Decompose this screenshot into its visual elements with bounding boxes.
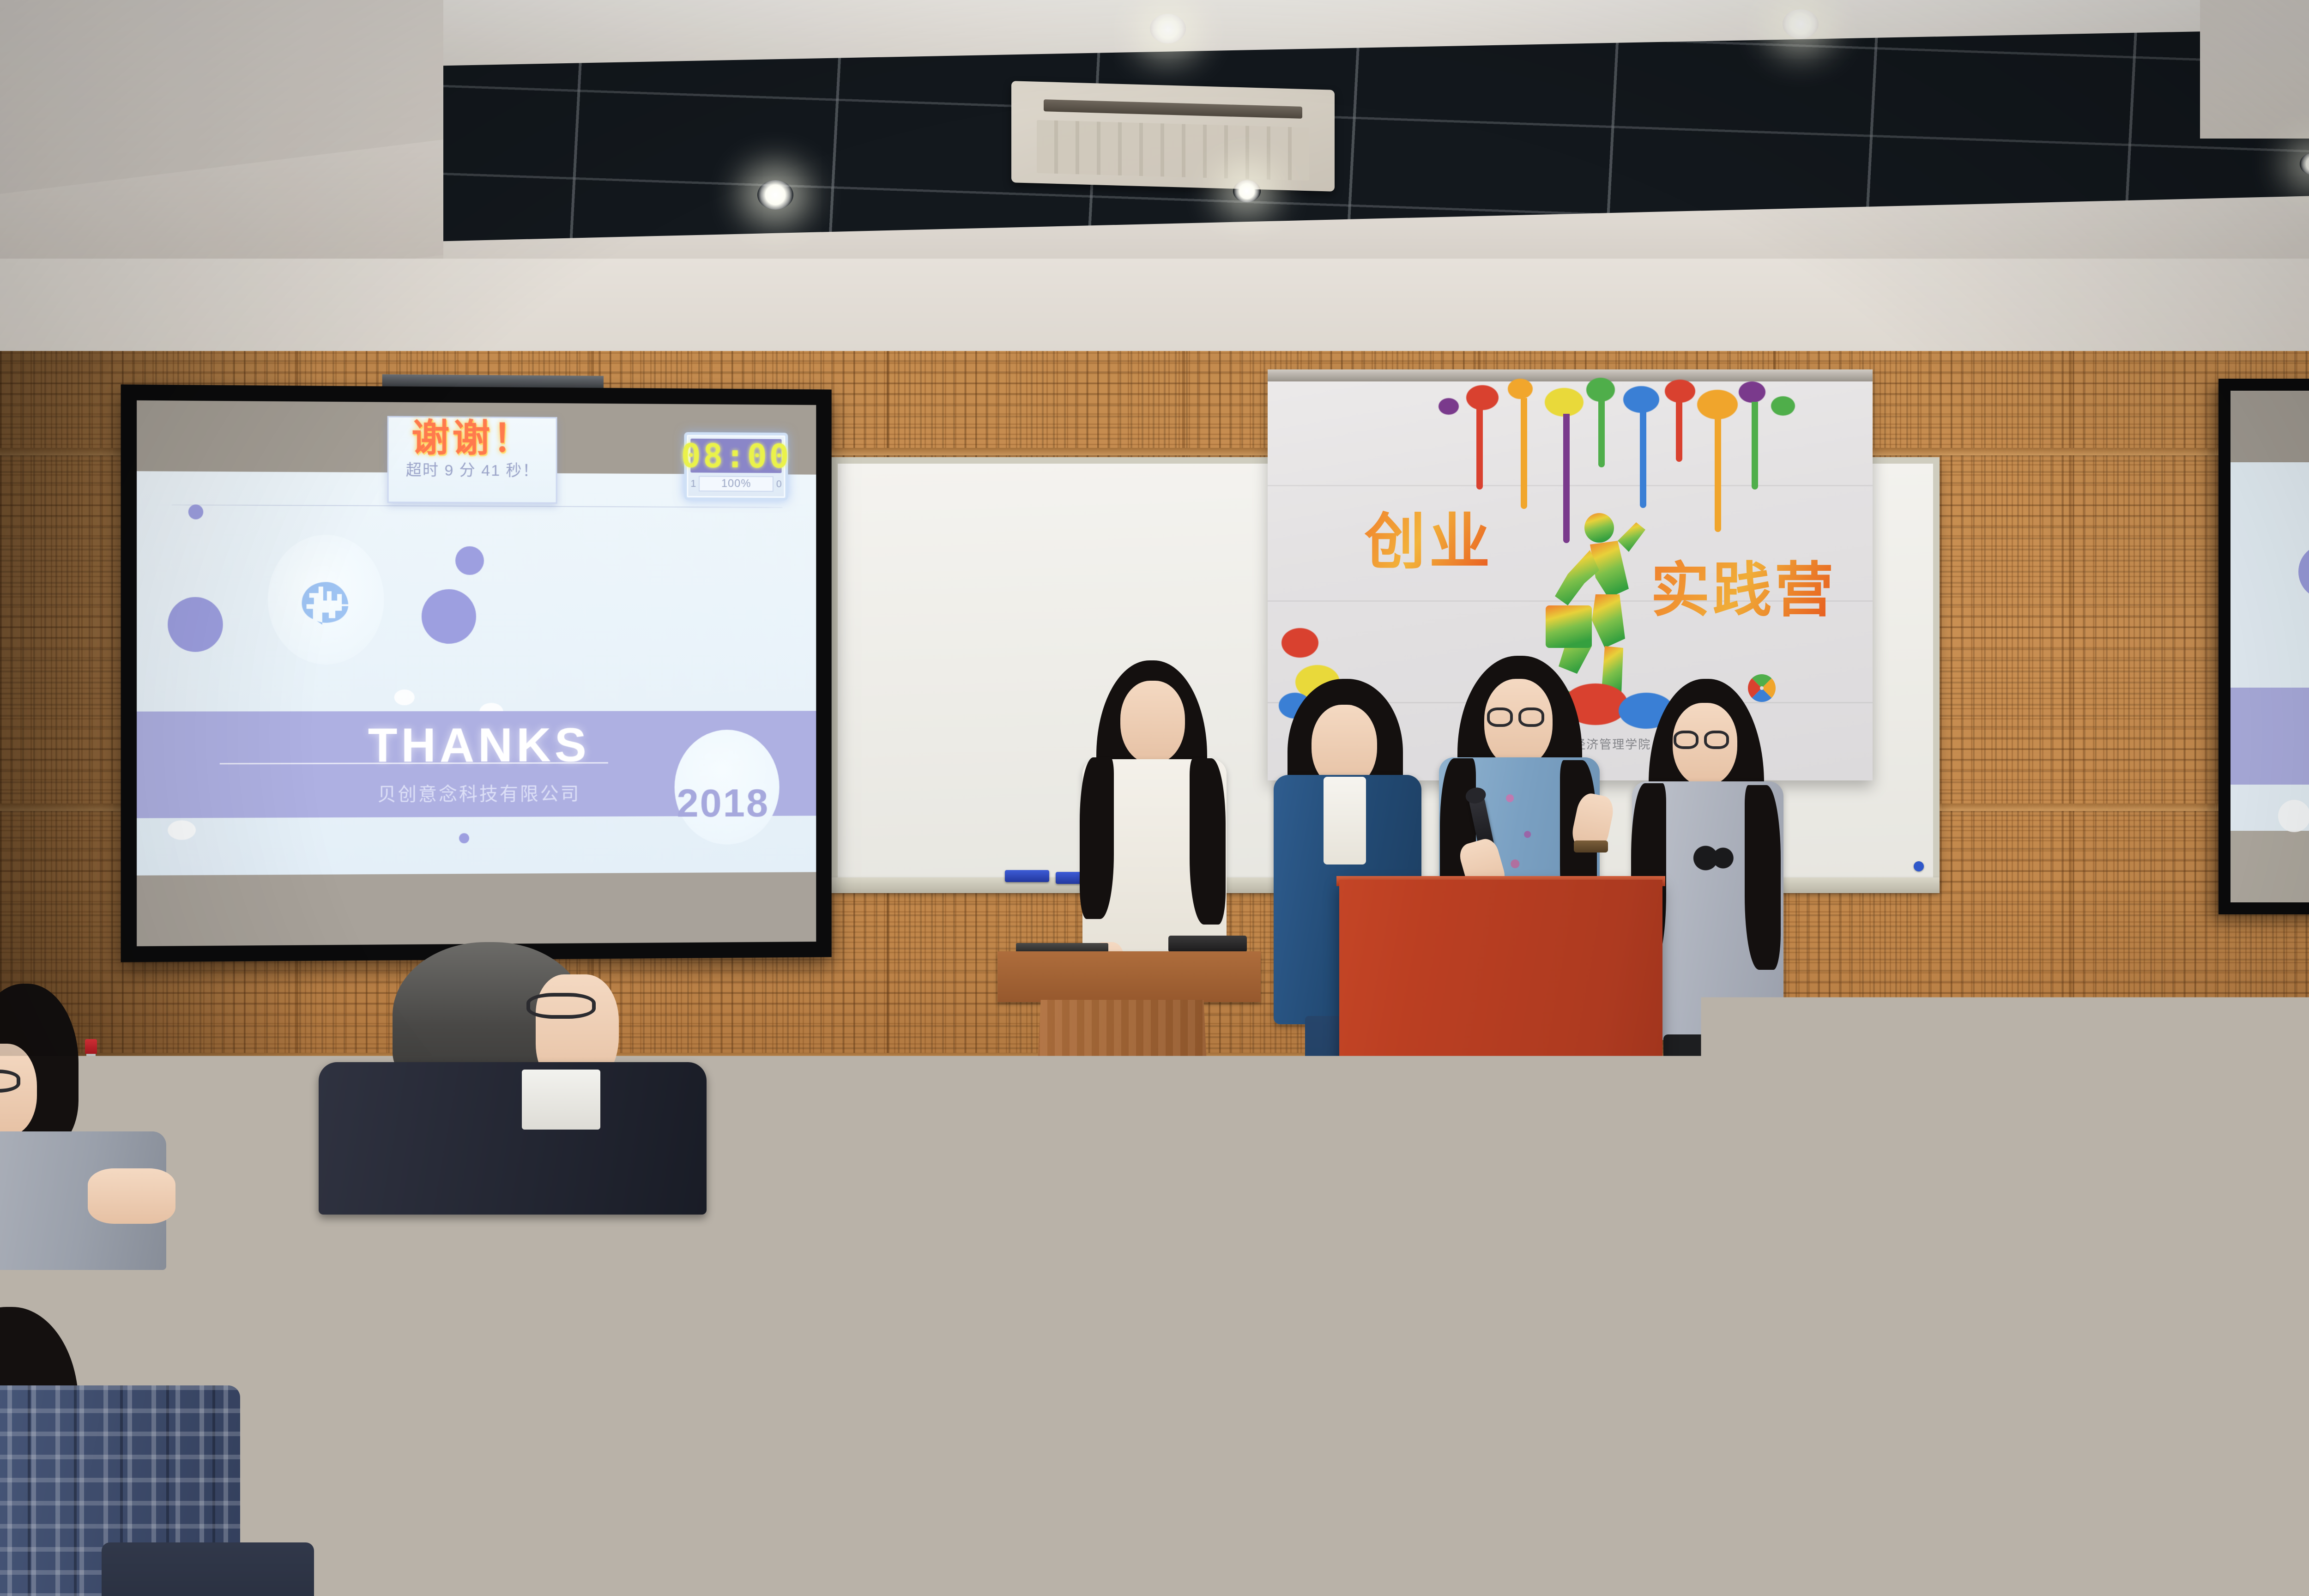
presenter-right-floral-skirt <box>1663 1034 1763 1155</box>
lectern-control-panel[interactable] <box>1016 943 1108 952</box>
ac-cassette-unit <box>1011 81 1335 192</box>
handbag[interactable] <box>810 1469 944 1596</box>
timer-left-marker: 1 <box>690 478 696 490</box>
ac-vent-slot <box>1044 99 1302 119</box>
slide-year: 2018 <box>677 781 769 827</box>
glasses-icon <box>1704 731 1729 749</box>
overtime-headline: 谢谢！ <box>389 419 556 458</box>
laptop-screen[interactable] <box>2182 1175 2309 1328</box>
audience-person-jeans <box>102 1542 314 1596</box>
timer-right-marker: 0 <box>776 478 782 490</box>
whiteboard-magnet[interactable] <box>1914 861 1924 871</box>
audience-shoe <box>619 1445 813 1529</box>
downlight-icon <box>1783 9 1819 39</box>
audience-person-grey-jacket <box>0 984 212 1270</box>
right-projection-screen <box>2218 379 2309 914</box>
name-card-splash <box>2052 1168 2101 1182</box>
office-chair[interactable] <box>808 1141 1058 1293</box>
glasses-icon <box>1674 731 1699 749</box>
presenter-right-printed-tee <box>1680 794 1738 933</box>
lectern-device[interactable] <box>1168 936 1247 952</box>
main-lectern <box>1339 880 1662 1434</box>
timer-progress-bar: 100% <box>699 476 773 492</box>
glasses-icon <box>526 993 596 1019</box>
presenter-center-left-shirt <box>1324 777 1366 864</box>
banner-word-right: 实践营 <box>1650 542 1836 628</box>
glasses-icon <box>1518 707 1544 727</box>
downlight-icon <box>1233 180 1261 202</box>
name-card-fold <box>2033 1168 2034 1213</box>
audience-clasped-hands <box>88 1168 175 1224</box>
wristwatch <box>1574 840 1608 852</box>
ac-grille <box>1037 120 1309 181</box>
overtime-card: 谢谢！ 超时 9 分 41 秒！ <box>387 416 557 504</box>
classroom-presentation-photo: 创业 实践营 <box>0 0 2309 1596</box>
laptop-keyboard[interactable] <box>2182 1345 2309 1366</box>
whiteboard-eraser[interactable] <box>1005 870 1049 882</box>
office-chair[interactable] <box>1953 1385 2152 1570</box>
left-projection-screen: THANKS 贝创意念科技有限公司 2018 谢谢！ 超时 9 分 41 秒！ … <box>121 384 832 962</box>
audience-man-in-suit <box>277 942 804 1201</box>
downlight-icon <box>1150 14 1186 43</box>
overtime-detail: 超时 9 分 41 秒！ <box>389 457 556 481</box>
laptop[interactable] <box>2166 1168 2309 1381</box>
countdown-timer-widget[interactable]: 08:00 1 100% 0 <box>684 432 788 501</box>
presenter-right-tights <box>1670 1150 1746 1302</box>
laptop-base <box>2166 1336 2309 1381</box>
timer-display: 08:00 <box>690 439 781 473</box>
desk-right-front-modesty-panel <box>2170 1427 2309 1596</box>
name-card-right-text: 范小华 <box>2045 1182 2109 1209</box>
audience-man-suit-jacket <box>319 1062 707 1215</box>
banner-word-left: 创业 <box>1365 493 1494 581</box>
audience-man-collar <box>522 1070 600 1130</box>
banner-hang-bar <box>1268 369 1873 381</box>
audience-person-plaid-shirt <box>0 1247 323 1596</box>
ceiling-soffit-right <box>2200 0 2309 139</box>
downlight-icon <box>757 180 793 210</box>
presentation-slide: THANKS 贝创意念科技有限公司 2018 谢谢！ 超时 9 分 41 秒！ … <box>137 400 816 946</box>
presenter-right-shoes <box>1666 1293 1747 1323</box>
screen-mount <box>382 374 604 388</box>
slide-logo-circle <box>268 535 384 665</box>
laptop-lid <box>2175 1168 2309 1335</box>
brain-circuit-icon <box>298 580 354 625</box>
glasses-icon <box>1487 707 1513 727</box>
